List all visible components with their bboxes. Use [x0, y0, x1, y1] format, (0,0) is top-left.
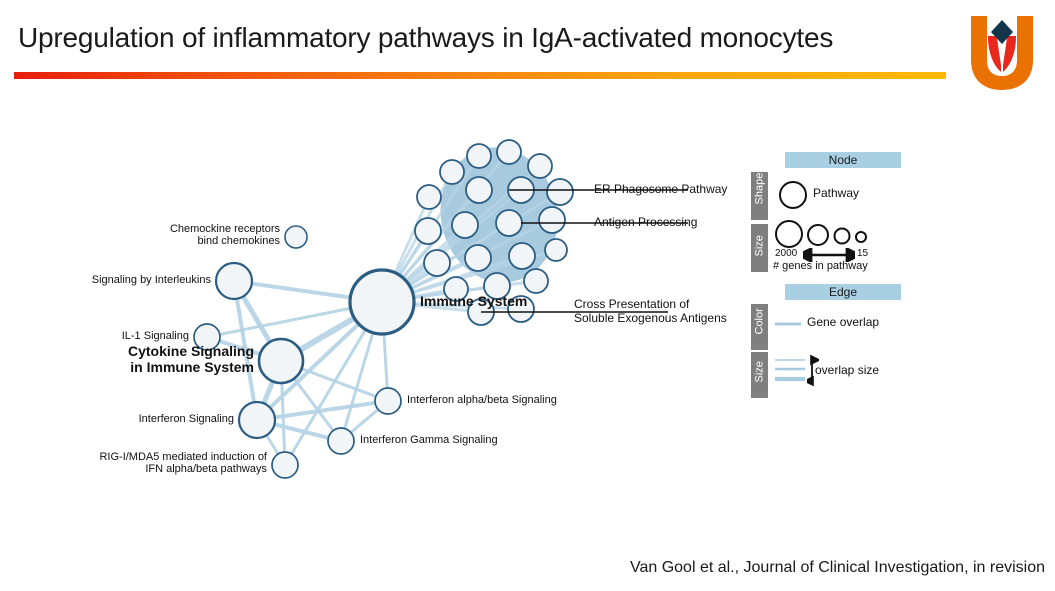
- legend-size-max: 2000: [775, 248, 797, 259]
- cluster-node[interactable]: [466, 177, 492, 203]
- legend-edge-size-tab: Size: [751, 352, 768, 398]
- page-title: Upregulation of inflammatory pathways in…: [18, 22, 833, 54]
- cluster-node[interactable]: [547, 179, 573, 205]
- legend-node-shape-tab: Shape: [751, 172, 768, 220]
- graph-node-cytokine_signaling[interactable]: [259, 339, 303, 383]
- legend-edge-color-tab: Color: [751, 304, 768, 350]
- cluster-node[interactable]: [539, 207, 565, 233]
- callout-label-2: Cross Presentation ofSoluble Exogenous A…: [574, 297, 727, 325]
- citation-text: Van Gool et al., Journal of Clinical Inv…: [630, 559, 1045, 577]
- legend-node-size-tab: Size: [751, 224, 768, 272]
- node-label-signaling_by_interleukins: Signaling by Interleukins: [92, 274, 211, 286]
- graph-node-chemokine_receptors[interactable]: [285, 226, 307, 248]
- cluster-node[interactable]: [415, 218, 441, 244]
- cluster-node[interactable]: [440, 160, 464, 184]
- cluster-node[interactable]: [465, 245, 491, 271]
- title-divider-rule: [14, 72, 946, 79]
- legend-panel: Node Shape Pathway Size 2000: [751, 152, 901, 398]
- cluster-node[interactable]: [424, 250, 450, 276]
- graph-node-immune_system[interactable]: [350, 270, 414, 334]
- legend-pathway-label: Pathway: [813, 186, 859, 200]
- legend-size-caption: # genes in pathway: [773, 260, 868, 272]
- cluster-node[interactable]: [452, 212, 478, 238]
- node-label-rig_i_mda5: RIG-I/MDA5 mediated induction ofIFN alph…: [99, 451, 267, 475]
- cluster-node[interactable]: [545, 239, 567, 261]
- cluster-node[interactable]: [528, 154, 552, 178]
- pathway-network-graph: Immune SystemCytokine Signalingin Immune…: [0, 100, 760, 520]
- callout-label-0: ER Phagosome Pathway: [594, 182, 727, 196]
- node-label-interferon_signaling: Interferon Signaling: [139, 413, 234, 425]
- cluster-node[interactable]: [467, 144, 491, 168]
- graph-node-rig_i_mda5[interactable]: [272, 452, 298, 478]
- legend-pathway-circle-icon: [773, 174, 813, 216]
- legend-gene-overlap-label: Gene overlap: [807, 315, 879, 329]
- graph-node-signaling_by_interleukins[interactable]: [216, 263, 252, 299]
- node-label-chemokine_receptors: Chemockine receptorsbind chemokines: [170, 223, 280, 247]
- legend-overlap-size-label: overlap size: [815, 363, 879, 377]
- cluster-node[interactable]: [509, 243, 535, 269]
- graph-node-interferon_gamma[interactable]: [328, 428, 354, 454]
- legend-edge-color-swatch-icon: [773, 314, 803, 334]
- legend-node-header: Node: [785, 152, 901, 168]
- legend-size-circles-icon: [773, 214, 901, 250]
- node-label-cytokine_signaling: Cytokine Signalingin Immune System: [128, 343, 254, 375]
- legend-edge-header: Edge: [785, 284, 901, 300]
- legend-size-min: 15: [857, 248, 868, 259]
- graph-node-interferon_signaling[interactable]: [239, 402, 275, 438]
- node-label-interferon_gamma: Interferon Gamma Signaling: [360, 434, 498, 446]
- cluster-node[interactable]: [524, 269, 548, 293]
- node-label-interferon_alpha_beta: Interferon alpha/beta Signaling: [407, 394, 557, 406]
- node-label-il1_signaling: IL-1 Signaling: [122, 330, 189, 342]
- callout-label-1: Antigen Processing: [594, 215, 697, 229]
- slide-canvas: Upregulation of inflammatory pathways in…: [0, 0, 1055, 591]
- cluster-node[interactable]: [496, 210, 522, 236]
- cluster-node[interactable]: [417, 185, 441, 209]
- graph-node-interferon_alpha_beta[interactable]: [375, 388, 401, 414]
- cluster-node[interactable]: [497, 140, 521, 164]
- utrecht-university-tulip-logo: [963, 10, 1041, 94]
- node-label-immune_system: Immune System: [420, 293, 527, 309]
